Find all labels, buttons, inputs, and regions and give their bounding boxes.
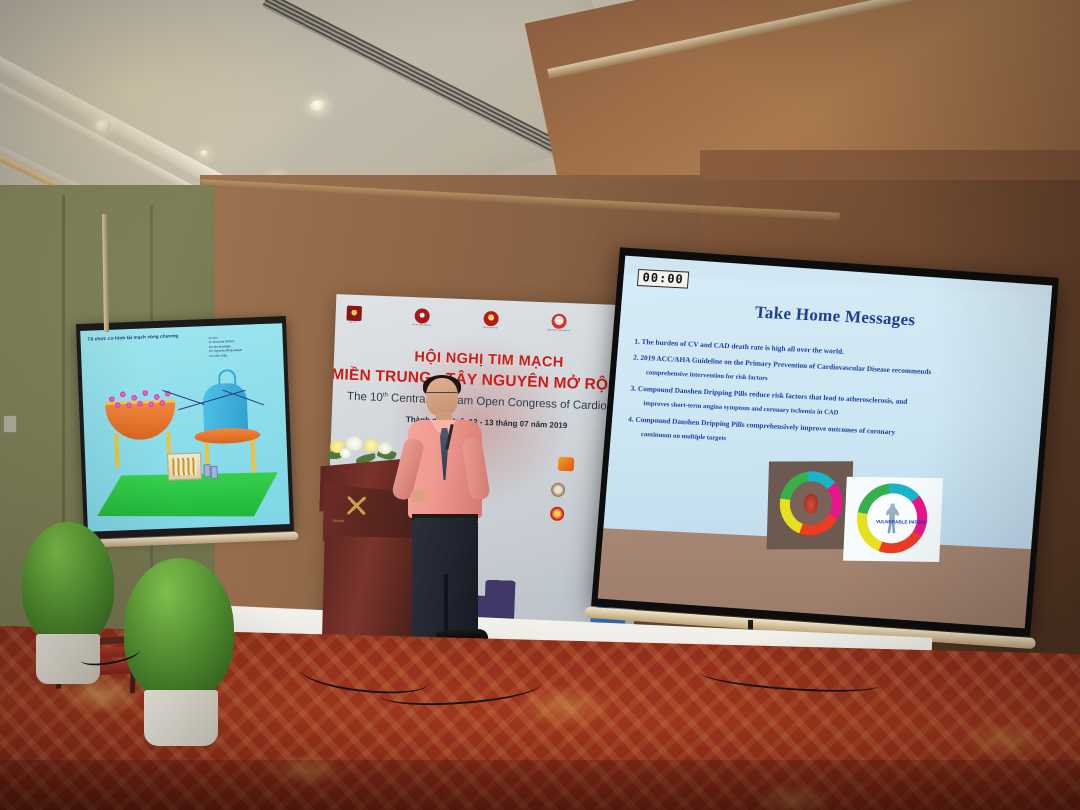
- org-logo-caption: Bệnh Viện Trung Ương Huế: [547, 329, 569, 332]
- heart-icon: [804, 493, 819, 513]
- ring-center: VULNERABLE PATIENT: [866, 493, 918, 544]
- ceiling-downlight: [200, 150, 209, 156]
- wall-switch-plate[interactable]: [3, 415, 17, 433]
- topiary-foliage: [124, 558, 234, 700]
- left-screen-surface: Tổ chức cơ hình tái mạch vòng chương Cơ …: [80, 323, 290, 532]
- carpet-foreground-shadow: [0, 760, 1080, 810]
- left-projection-screen: Tổ chức cơ hình tái mạch vòng chương Cơ …: [76, 316, 294, 539]
- vulnerable-plaque-heart-ring: [767, 461, 854, 549]
- org-logo-4: Bệnh Viện Trung Ương Huế: [549, 313, 570, 336]
- ring-center-label: VULNERABLE PATIENT: [871, 519, 933, 525]
- sponsor-icon-flame: [550, 507, 565, 522]
- slide-title: Take Home Messages: [620, 296, 1049, 337]
- podium-emblem-label: Hotel: [333, 518, 344, 523]
- flower-bloom: [340, 448, 351, 458]
- flower-bloom: [364, 439, 378, 452]
- slide-ring-diagrams: VULNERABLE PATIENT: [764, 459, 951, 562]
- plant-pot: [144, 690, 218, 746]
- glasses-icon: [427, 392, 457, 400]
- seal-icon: [551, 313, 567, 329]
- shield-icon: [346, 306, 362, 322]
- slide-bullet-list: 1. The burden of CV and CAD death rate i…: [626, 337, 1036, 465]
- org-logo-caption: Hội Tim Mạch Huế: [483, 327, 498, 329]
- speaker-hand: [410, 490, 426, 502]
- slide-pink-spheres: [104, 382, 175, 409]
- presentation-countdown-timer: 00:00: [637, 269, 689, 289]
- seal-icon: [414, 308, 430, 324]
- org-logo-3: Hội Tim Mạch Huế: [480, 311, 501, 334]
- banner-sponsor-logo-row: Bộ Y Tế Hội Tim Mạch Việt Nam Hội Tim Mạ…: [343, 302, 638, 341]
- org-logo-caption: Bộ Y Tế: [350, 322, 356, 324]
- presenting-speaker: [400, 378, 500, 668]
- seal-icon: [483, 311, 499, 327]
- topiary-foliage: [22, 522, 114, 644]
- ring-center: [789, 481, 832, 525]
- vulnerable-patient-ring: VULNERABLE PATIENT: [843, 477, 943, 562]
- slide-disc-leg: [250, 438, 255, 472]
- rainbow-ring-icon: [779, 471, 843, 535]
- left-slide-legend: Cơ tim Is nonacute biofunc Cơ tim blocka…: [209, 333, 278, 358]
- rainbow-ring-icon: VULNERABLE PATIENT: [855, 483, 928, 554]
- org-logo-caption: Hội Tim Mạch Việt Nam: [412, 324, 431, 327]
- ceiling-downlight: [95, 120, 111, 131]
- presentation-slide: Take Home Messages 1. The burden of CV a…: [603, 274, 1051, 549]
- conference-room-photo: Bộ Y Tế Hội Tim Mạch Việt Nam Hội Tim Mạ…: [0, 0, 1080, 810]
- hotel-emblem-icon: [347, 496, 365, 514]
- sponsor-icon-sun: [558, 457, 575, 472]
- topiary-plant-back: [14, 522, 124, 702]
- slide-medicine-box-pattern: [172, 458, 197, 476]
- org-logo-1: Bộ Y Tế: [343, 305, 364, 328]
- right-screen-surface: Take Home Messages 1. The burden of CV a…: [598, 256, 1053, 629]
- banner-title-english-pre: The 10: [347, 391, 383, 404]
- left-slide-title: Tổ chức cơ hình tái mạch vòng chương: [87, 333, 178, 341]
- slide-bowl-leg: [114, 434, 119, 468]
- speaker-leg-split: [444, 574, 448, 638]
- right-projection-screen: Take Home Messages 1. The burden of CV a…: [591, 247, 1059, 637]
- org-logo-2: Hội Tim Mạch Việt Nam: [412, 308, 433, 331]
- sponsor-icon-seal: [551, 483, 566, 498]
- ceiling-downlight: [310, 100, 327, 112]
- slide-medicine-box: [167, 452, 202, 480]
- slide-vial: [210, 466, 217, 479]
- topiary-plant-front: [118, 558, 248, 758]
